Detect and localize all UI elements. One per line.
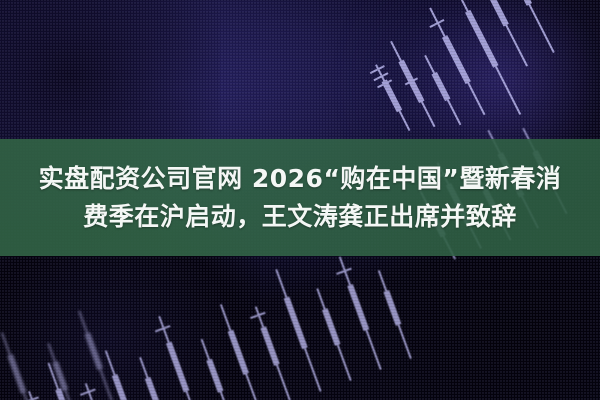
headline-banner-content: 实盘配资公司官网 2026“购在中国”暨新春消 费季在沪启动，王文涛龚正出席并致… (0, 139, 600, 256)
headline-line-1: 实盘配资公司官网 2026“购在中国”暨新春消 (39, 161, 562, 197)
headline-banner: 实盘配资公司官网 2026“购在中国”暨新春消 费季在沪启动，王文涛龚正出席并致… (0, 139, 600, 256)
headline-line-2: 费季在沪启动，王文涛龚正出席并致辞 (83, 199, 517, 235)
cover-image: 实盘配资公司官网 2026“购在中国”暨新春消 费季在沪启动，王文涛龚正出席并致… (0, 0, 600, 400)
